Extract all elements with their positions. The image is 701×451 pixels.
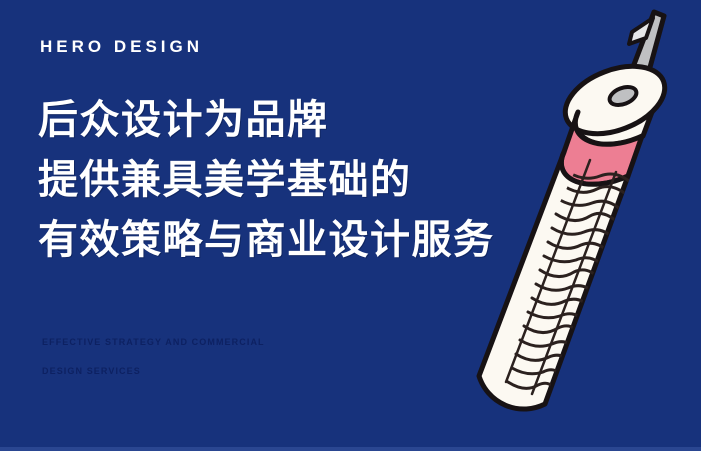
banner-bottom-edge <box>0 447 701 451</box>
hero-banner: HERO DESIGN 后众设计为品牌 提供兼具美学基础的 有效策略与商业设计服… <box>0 0 701 451</box>
headline-line-2: 提供兼具美学基础的 <box>38 160 412 200</box>
subcaption-line-1: EFFECTIVE STRATEGY AND COMMERCIAL <box>42 338 265 347</box>
craft-knife-illustration <box>440 0 701 451</box>
subcaption-line-2: DESIGN SERVICES <box>42 367 141 376</box>
headline-line-1: 后众设计为品牌 <box>38 100 329 140</box>
headline-line-3: 有效策略与商业设计服务 <box>38 220 495 260</box>
brand-eyebrow-label: HERO DESIGN <box>40 38 203 55</box>
